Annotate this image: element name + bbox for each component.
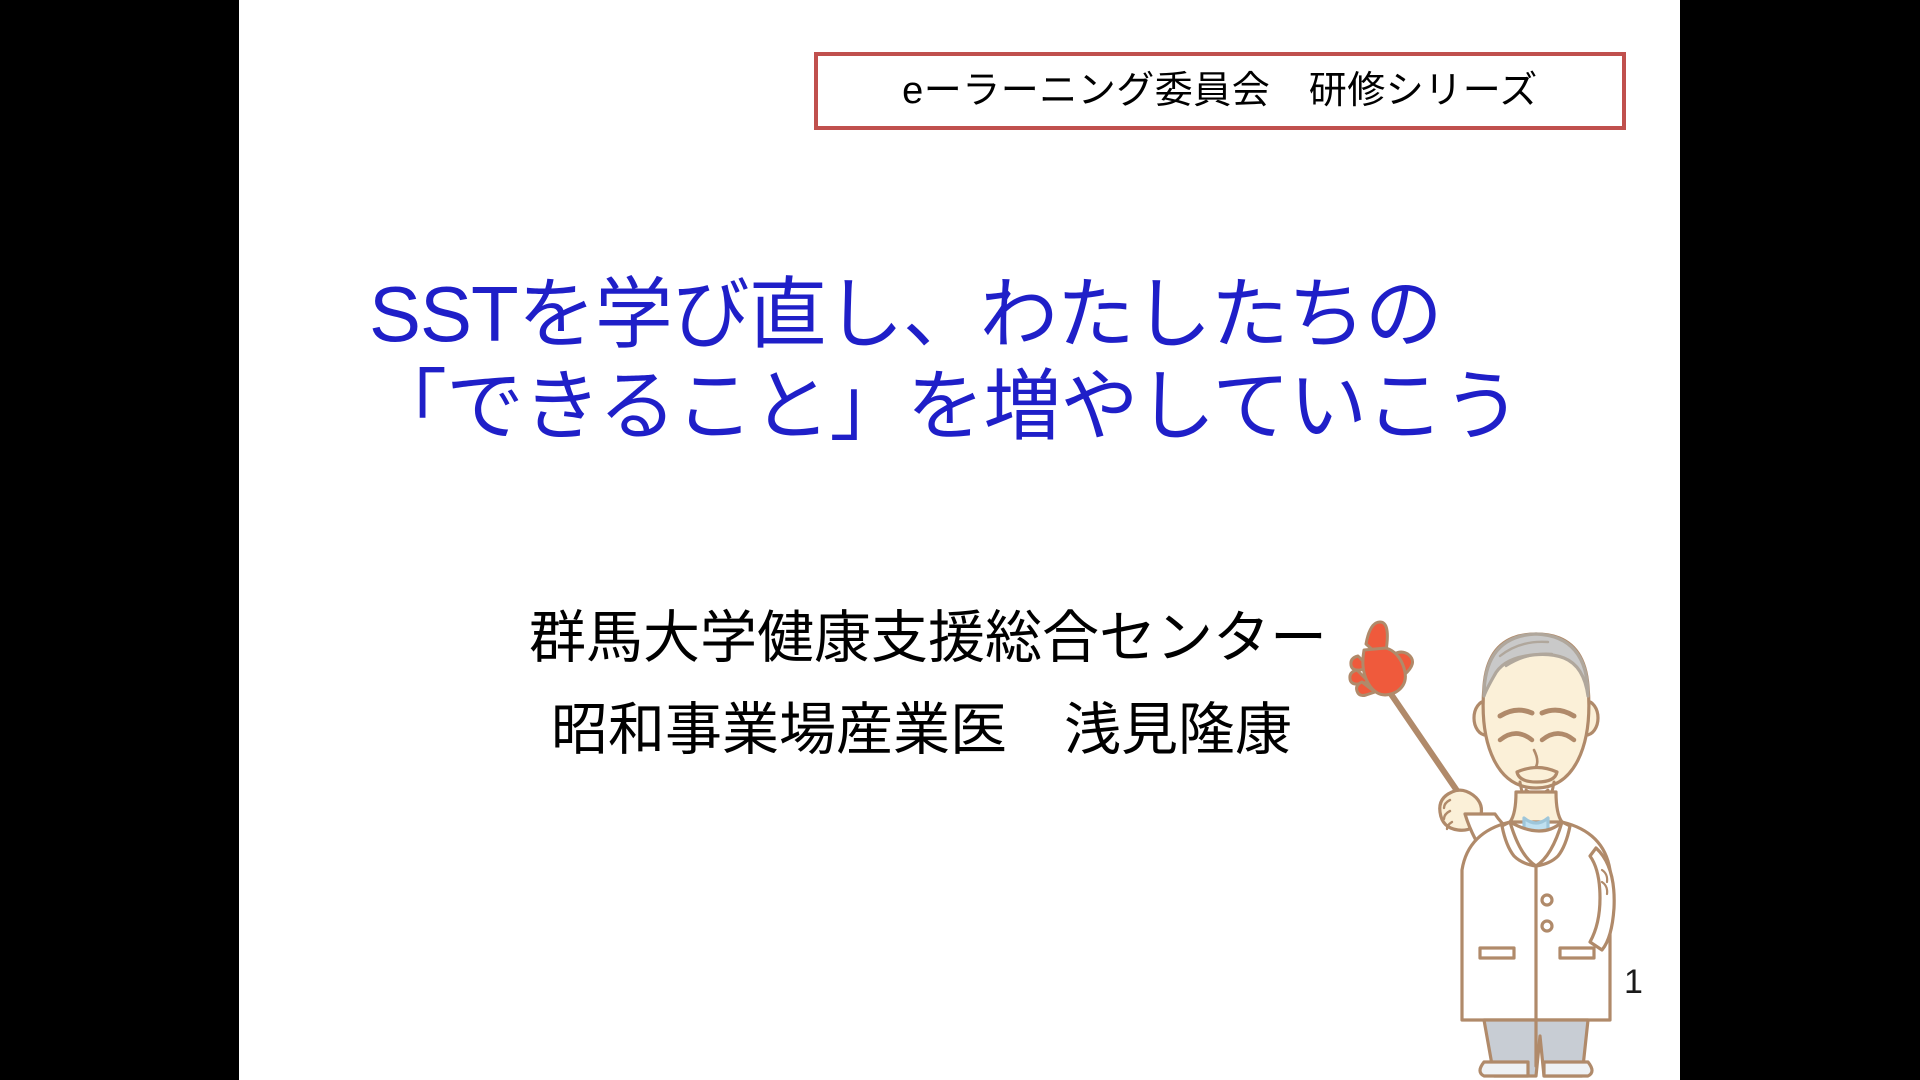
title-line-2: 「できること」を増やしていこう <box>369 360 1549 452</box>
letterbox-bar-left <box>0 0 239 1080</box>
doctor-with-pointer-icon <box>1334 600 1680 1080</box>
presentation-slide: eーラーニング委員会 研修シリーズ SSTを学び直し、わたしたちの 「できること… <box>239 0 1680 1080</box>
slide-viewer: eーラーニング委員会 研修シリーズ SSTを学び直し、わたしたちの 「できること… <box>0 0 1920 1080</box>
series-banner-label: eーラーニング委員会 研修シリーズ <box>902 72 1538 110</box>
series-banner: eーラーニング委員会 研修シリーズ <box>814 52 1626 130</box>
letterbox-bar-right <box>1680 0 1920 1080</box>
page-title: SSTを学び直し、わたしたちの 「できること」を増やしていこう <box>369 268 1549 452</box>
doctor-illustration <box>1334 600 1680 1080</box>
title-line-1: SSTを学び直し、わたしたちの <box>369 268 1549 360</box>
